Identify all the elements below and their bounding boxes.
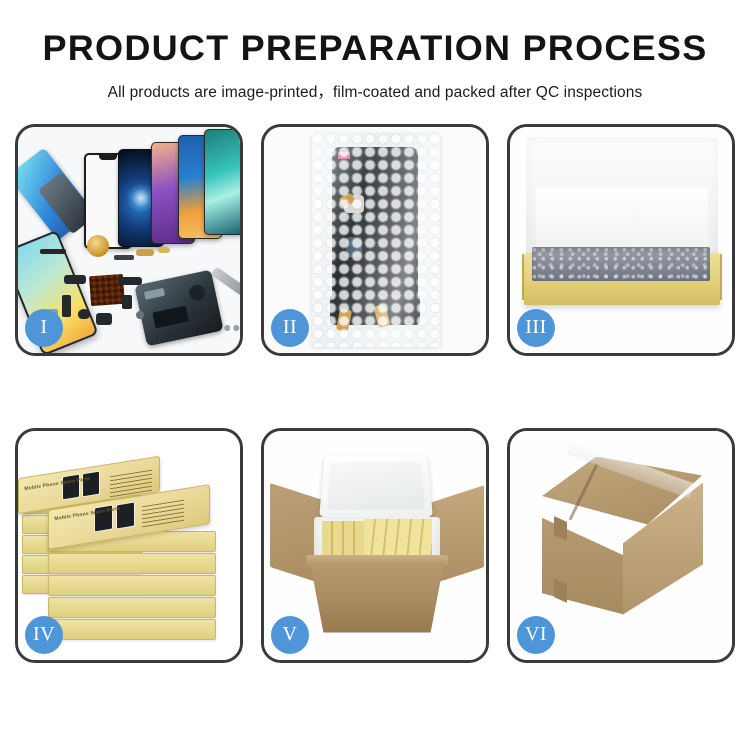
gold-contact-part [158,247,170,253]
bag-sheen [312,133,440,347]
small-part-7 [122,295,132,309]
page-subtitle: All products are image-printed，film-coat… [0,80,750,102]
small-part-6 [118,277,142,285]
small-part-2 [64,275,86,284]
step-badge-1: I [25,309,63,347]
flex-cable-part [136,249,154,256]
step-panel-1[interactable]: I [15,124,243,356]
phone-chassis [134,269,223,346]
small-part-5 [96,313,112,325]
grey-pearl-cotton-foam [532,247,710,281]
phone-teal [204,129,240,235]
process-steps-grid: I II [9,124,741,663]
step-panel-4[interactable]: Mobile Phone Spare Parts Mobile Phone Sp… [15,428,243,663]
header: PRODUCT PREPARATION PROCESS All products… [0,0,750,102]
step-panel-5[interactable]: V [261,428,489,663]
step-panel-3[interactable]: III [507,124,735,356]
page-title: PRODUCT PREPARATION PROCESS [0,30,750,69]
small-part-3 [62,295,71,317]
step-badge-5: V [271,616,309,654]
step-badge-2: II [271,309,309,347]
front-box-5 [48,619,216,640]
step-panel-2[interactable]: II [261,124,489,356]
small-part-12 [114,255,134,260]
camera-lens-part [136,311,144,319]
step-badge-3: III [517,309,555,347]
front-box-3 [48,575,216,596]
front-box-2 [48,553,216,574]
product-preparation-page: PRODUCT PREPARATION PROCESS All products… [0,0,750,750]
step-badge-6: VI [517,616,555,654]
bubble-wrap-bag [312,133,440,347]
screws-group [222,323,240,333]
lid-screen-image-2 [82,470,100,497]
wireless-coil-part [87,235,109,257]
earpiece-part [40,249,66,254]
carton-front-wall [310,563,444,633]
step-panel-6[interactable]: VI [507,428,735,663]
styrofoam-lid [319,456,433,517]
white-foam-sheet [526,137,718,263]
front-box-4 [48,597,216,618]
step-badge-4: IV [25,616,63,654]
small-part-4 [78,309,90,319]
